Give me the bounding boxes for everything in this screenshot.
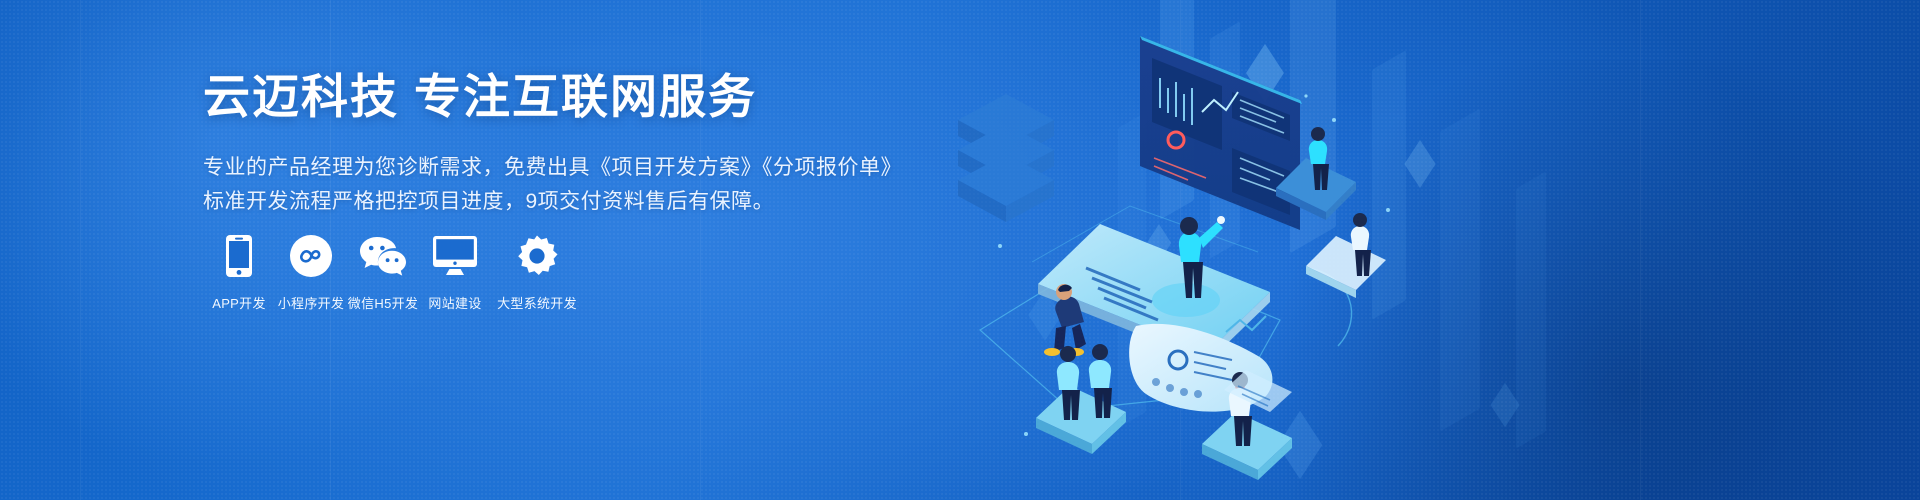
vertical-stripe xyxy=(80,0,81,500)
service-list: APP开发 小程序开发 微信 xyxy=(203,233,583,312)
subtitle-line-2: 标准开发流程严格把控项目进度，9项交付资料售后有保障。 xyxy=(203,185,923,219)
iso-bar xyxy=(1516,171,1546,448)
service-item-app[interactable]: APP开发 xyxy=(203,233,275,312)
service-label: 网站建设 xyxy=(428,293,481,312)
service-item-mini-program[interactable]: 小程序开发 xyxy=(275,233,347,312)
hero-copy: 云迈科技 专注互联网服务 专业的产品经理为您诊断需求，免费出具《项目开发方案》《… xyxy=(203,72,923,219)
hero-subtitle: 专业的产品经理为您诊断需求，免费出具《项目开发方案》《分项报价单》 标准开发流程… xyxy=(203,151,923,219)
service-label: 小程序开发 xyxy=(278,293,345,312)
service-label: 大型系统开发 xyxy=(497,293,577,312)
vertical-stripe xyxy=(1640,0,1641,500)
subtitle-line-1: 专业的产品经理为您诊断需求，免费出具《项目开发方案》《分项报价单》 xyxy=(203,151,923,185)
gear-icon xyxy=(516,233,558,279)
isometric-tech-dashboard-illustration xyxy=(940,0,1460,500)
mini-program-icon xyxy=(290,233,332,279)
service-item-large-system[interactable]: 大型系统开发 xyxy=(491,233,583,312)
floating-diamond xyxy=(1491,383,1520,428)
mobile-phone-icon xyxy=(226,233,252,279)
hero-banner: 云迈科技 专注互联网服务 专业的产品经理为您诊断需求，免费出具《项目开发方案》《… xyxy=(0,0,1920,500)
service-label: APP开发 xyxy=(212,293,266,312)
service-item-website[interactable]: 网站建设 xyxy=(419,233,491,312)
service-label: 微信H5开发 xyxy=(348,293,418,312)
wechat-icon xyxy=(359,233,407,279)
glow-top-left xyxy=(0,0,600,460)
monitor-icon xyxy=(433,233,477,279)
page-title: 云迈科技 专注互联网服务 xyxy=(203,72,923,123)
service-item-wechat-h5[interactable]: 微信H5开发 xyxy=(347,233,419,312)
